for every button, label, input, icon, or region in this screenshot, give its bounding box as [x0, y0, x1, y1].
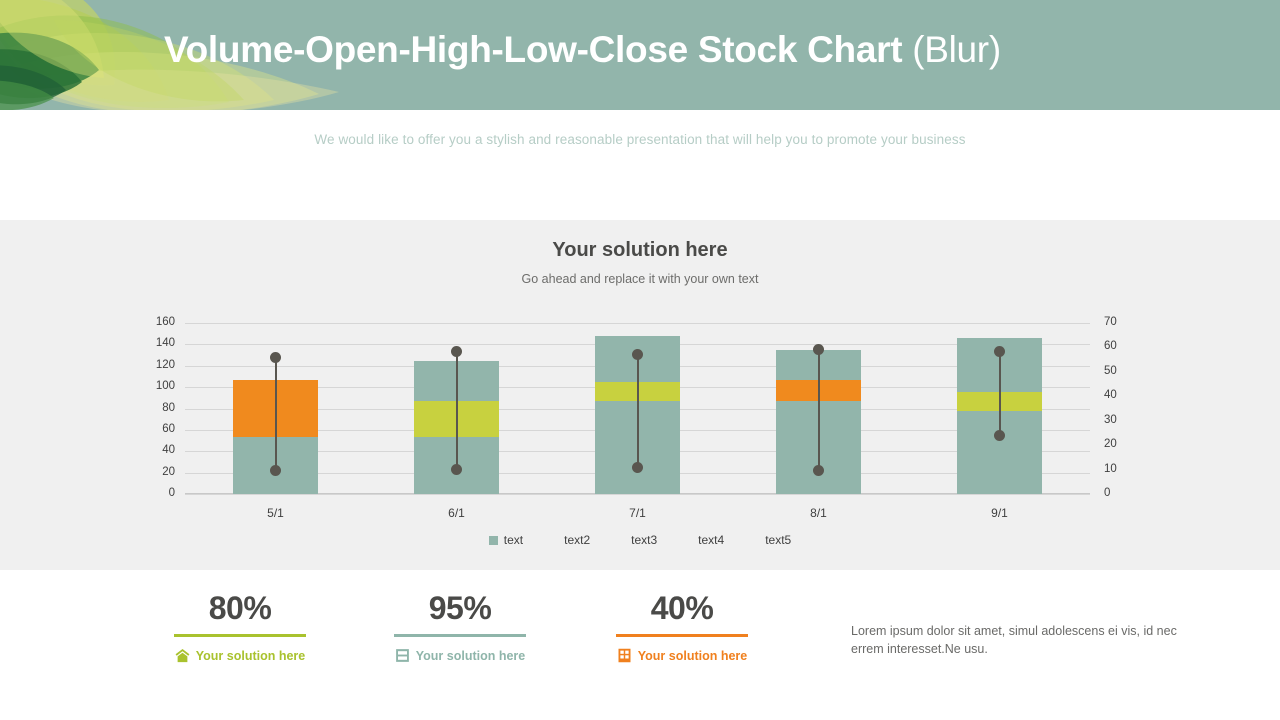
stat-card[interactable]: 80%Your solution here	[125, 585, 355, 663]
stat-footer: Your solution here	[567, 648, 797, 663]
highlow-wick	[456, 352, 458, 470]
legend-item[interactable]: text3	[616, 533, 657, 547]
stat-card[interactable]: 40%Your solution here	[567, 585, 797, 663]
legend-swatch	[549, 536, 558, 545]
stat-value: 80%	[125, 585, 355, 631]
x-axis-label: 9/1	[957, 506, 1042, 520]
stacked-bars-icon	[395, 648, 410, 663]
highlow-wick	[818, 350, 820, 471]
low-marker[interactable]	[813, 465, 824, 476]
page-title-main: Volume-Open-High-Low-Close Stock Chart	[164, 29, 902, 70]
y-axis-left-tick: 20	[162, 473, 175, 485]
chart-panel: Your solution here Go ahead and replace …	[0, 220, 1280, 570]
y-axis-left-tick: 140	[156, 344, 175, 356]
y-axis-right-tick: 40	[1104, 396, 1117, 408]
y-axis-right-tick: 60	[1104, 347, 1117, 359]
y-axis-left-tick: 40	[162, 451, 175, 463]
y-axis-right-tick: 20	[1104, 445, 1117, 457]
legend-item[interactable]: text5	[750, 533, 791, 547]
stat-label: Your solution here	[416, 649, 526, 663]
gridline	[185, 494, 1090, 495]
highlow-wick	[637, 354, 639, 467]
y-axis-right-tick: 10	[1104, 470, 1117, 482]
stat-footer: Your solution here	[125, 648, 355, 663]
y-axis-left-tick: 160	[156, 323, 175, 335]
legend-label: text3	[631, 533, 657, 547]
chart-legend: texttext2text3text4text5	[0, 533, 1280, 547]
grid-window-icon	[617, 648, 632, 663]
legend-swatch	[750, 536, 759, 545]
chart-bar[interactable]: 7/1	[595, 336, 680, 494]
x-axis-label: 8/1	[776, 506, 861, 520]
chart-plot-area: 020406080100120140160 010203040506070 5/…	[185, 323, 1090, 494]
low-marker[interactable]	[632, 462, 643, 473]
legend-label: text	[504, 533, 523, 547]
y-axis-right-tick: 30	[1104, 421, 1117, 433]
stat-underline	[616, 634, 748, 637]
y-axis-left-tick: 100	[156, 387, 175, 399]
low-marker[interactable]	[994, 430, 1005, 441]
chart-bar[interactable]: 6/1	[414, 361, 499, 494]
chart-bar[interactable]: 8/1	[776, 350, 861, 494]
header-band: Volume-Open-High-Low-Close Stock Chart (…	[0, 0, 1280, 110]
x-axis-label: 5/1	[233, 506, 318, 520]
legend-label: text4	[698, 533, 724, 547]
y-axis-left-tick: 80	[162, 409, 175, 421]
legend-swatch	[616, 536, 625, 545]
stat-footer: Your solution here	[345, 648, 575, 663]
page-title: Volume-Open-High-Low-Close Stock Chart (…	[164, 29, 1001, 71]
stat-label: Your solution here	[196, 649, 306, 663]
highlow-wick	[275, 357, 277, 470]
legend-item[interactable]: text2	[549, 533, 590, 547]
legend-item[interactable]: text4	[683, 533, 724, 547]
y-axis-right-tick: 70	[1104, 323, 1117, 335]
legend-label: text2	[564, 533, 590, 547]
legend-item[interactable]: text	[489, 533, 523, 547]
stat-label: Your solution here	[638, 649, 748, 663]
y-axis-left-tick: 60	[162, 430, 175, 442]
x-axis-label: 6/1	[414, 506, 499, 520]
legend-swatch	[489, 536, 498, 545]
highlow-wick	[999, 352, 1001, 435]
stat-card[interactable]: 95%Your solution here	[345, 585, 575, 663]
x-axis-label: 7/1	[595, 506, 680, 520]
slide: Volume-Open-High-Low-Close Stock Chart (…	[0, 0, 1280, 720]
high-marker[interactable]	[451, 346, 462, 357]
legend-swatch	[683, 536, 692, 545]
chart-bar[interactable]: 5/1	[233, 380, 318, 494]
slide-subtitle: We would like to offer you a stylish and…	[0, 132, 1280, 147]
stat-value: 40%	[567, 585, 797, 631]
y-axis-right-tick: 50	[1104, 372, 1117, 384]
low-marker[interactable]	[270, 465, 281, 476]
stat-underline	[394, 634, 526, 637]
high-marker[interactable]	[270, 352, 281, 363]
low-marker[interactable]	[451, 464, 462, 475]
page-title-suffix: (Blur)	[902, 29, 1001, 70]
chart-bar[interactable]: 9/1	[957, 338, 1042, 494]
chart-title: Your solution here	[0, 239, 1280, 262]
legend-label: text5	[765, 533, 791, 547]
y-axis-left-tick: 0	[169, 494, 175, 506]
chart-subtitle: Go ahead and replace it with your own te…	[0, 272, 1280, 286]
home-icon	[175, 648, 190, 663]
stat-underline	[174, 634, 306, 637]
y-axis-left-tick: 120	[156, 366, 175, 378]
high-marker[interactable]	[632, 349, 643, 360]
y-axis-right-tick: 0	[1104, 494, 1110, 506]
gridline	[185, 323, 1090, 324]
body-copy: Lorem ipsum dolor sit amet, simul adoles…	[851, 622, 1211, 658]
stat-value: 95%	[345, 585, 575, 631]
